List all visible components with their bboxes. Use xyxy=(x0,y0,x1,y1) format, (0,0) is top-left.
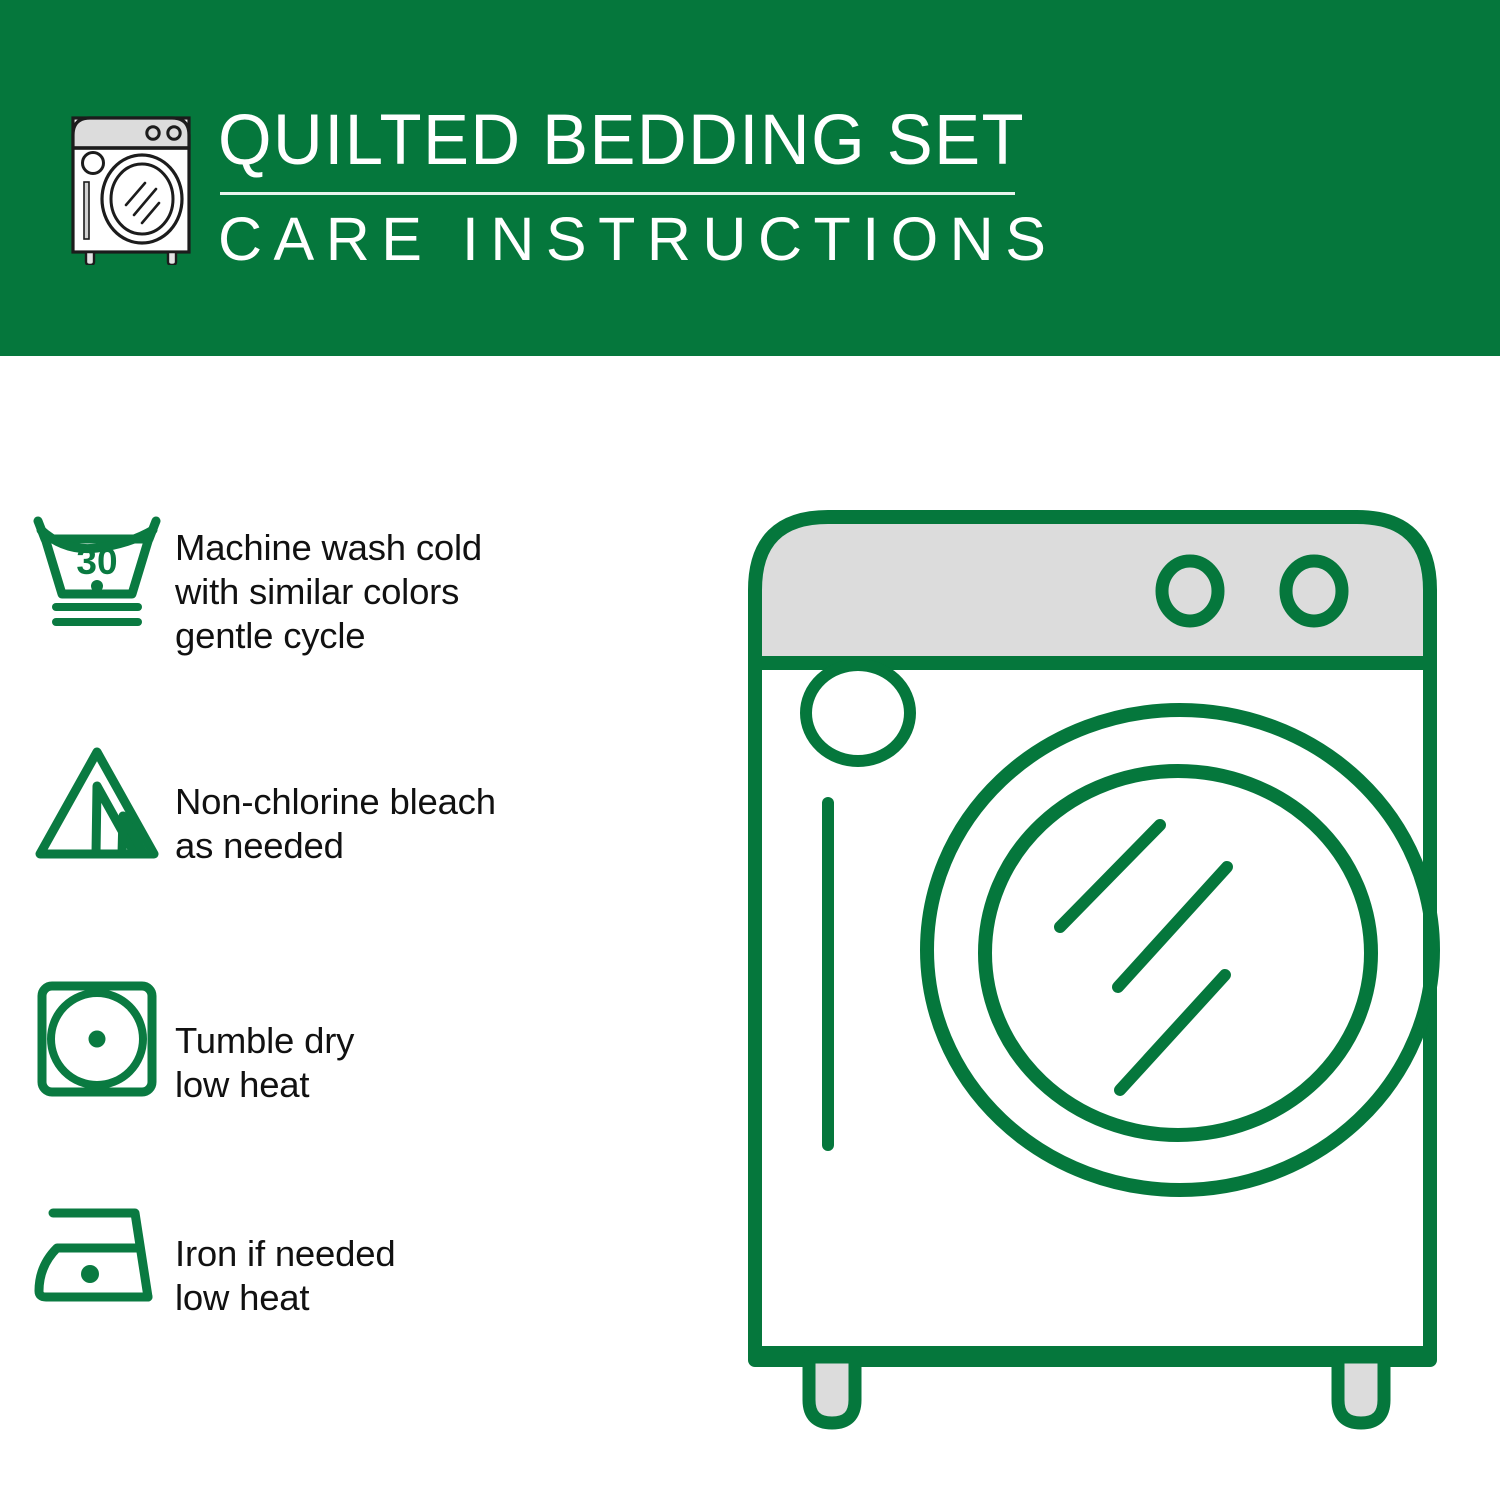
page-title: QUILTED BEDDING SET xyxy=(218,104,994,178)
care-text-line: low heat xyxy=(175,1276,395,1320)
care-text-line: Machine wash cold xyxy=(175,526,482,570)
care-text-line: as needed xyxy=(175,824,496,868)
care-text-line: with similar colors xyxy=(175,570,482,614)
leg-left xyxy=(809,1357,855,1423)
care-item-label: Iron if needed low heat xyxy=(175,1196,395,1320)
washing-machine-illustration xyxy=(740,495,1455,1430)
leg-right xyxy=(1338,1357,1384,1423)
care-text-line: low heat xyxy=(175,1063,354,1107)
knob-right[interactable] xyxy=(1286,561,1342,621)
non-chlorine-bleach-icon xyxy=(0,738,175,868)
tumble-dry-low-icon xyxy=(0,974,175,1104)
header-text-block: QUILTED BEDDING SET CARE INSTRUCTIONS xyxy=(218,104,1018,271)
care-instructions-list: 30 Machine wash cold with similar colors… xyxy=(0,356,740,1500)
knob-left[interactable] xyxy=(1162,561,1218,621)
wash-temperature-label: 30 xyxy=(76,541,117,582)
iron-low-heat-icon xyxy=(0,1196,175,1316)
care-text-line: Tumble dry xyxy=(175,1019,354,1063)
care-item-label: Non-chlorine bleach as needed xyxy=(175,738,496,868)
care-text-line: Non-chlorine bleach xyxy=(175,780,496,824)
header-divider xyxy=(220,192,1015,195)
machine-wash-30-icon: 30 xyxy=(0,508,175,638)
care-item-label: Tumble dry low heat xyxy=(175,974,354,1107)
care-text-line: gentle cycle xyxy=(175,614,482,658)
page-subtitle: CARE INSTRUCTIONS xyxy=(218,207,1018,271)
care-item-machine-wash: 30 Machine wash cold with similar colors… xyxy=(0,508,740,658)
washing-machine-icon xyxy=(62,105,200,265)
care-item-label: Machine wash cold with similar colors ge… xyxy=(175,508,482,658)
care-text-line: Iron if needed xyxy=(175,1232,395,1276)
care-item-tumble-dry: Tumble dry low heat xyxy=(0,974,740,1107)
header-banner: QUILTED BEDDING SET CARE INSTRUCTIONS xyxy=(0,0,1500,356)
care-item-iron: Iron if needed low heat xyxy=(0,1196,740,1320)
care-item-bleach: Non-chlorine bleach as needed xyxy=(0,738,740,868)
